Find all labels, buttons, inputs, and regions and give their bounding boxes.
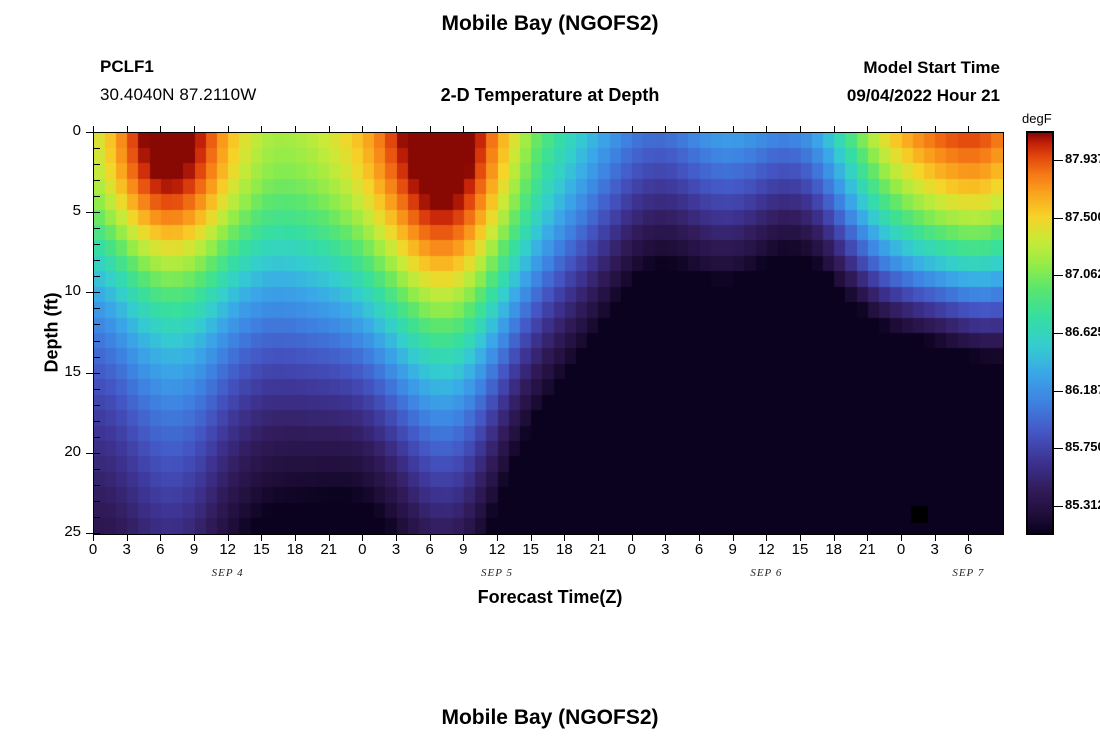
- x-axis-top-tick: [935, 126, 936, 132]
- x-axis-tick-label: 18: [280, 541, 310, 558]
- colorbar-tick-label: 87.5000: [1065, 209, 1100, 224]
- y-axis-minor-tick: [94, 308, 100, 309]
- x-axis-tick-mark: [632, 534, 633, 541]
- y-axis-minor-tick: [94, 164, 100, 165]
- x-axis-top-tick: [531, 126, 532, 132]
- y-axis-tick-mark: [86, 373, 93, 374]
- colorbar-tick-mark: [1054, 275, 1063, 276]
- colorbar-units-label: degF: [1022, 111, 1052, 126]
- x-axis-top-tick: [228, 126, 229, 132]
- x-axis-tick-mark: [295, 534, 296, 541]
- y-axis-minor-tick: [94, 212, 100, 213]
- x-axis-top-tick: [632, 126, 633, 132]
- x-axis-tick-mark: [160, 534, 161, 541]
- x-axis-top-tick: [261, 126, 262, 132]
- colorbar-tick-mark: [1054, 391, 1063, 392]
- x-axis-tick-mark: [867, 534, 868, 541]
- y-axis-minor-tick: [94, 533, 100, 534]
- x-axis-tick-label: 6: [684, 541, 714, 558]
- x-axis-day-label: SEP 7: [933, 567, 1003, 579]
- x-axis-top-tick: [968, 126, 969, 132]
- heatmap-plot-area: [93, 132, 1004, 535]
- colorbar-tick-label: 86.6250: [1065, 324, 1100, 339]
- y-axis-minor-tick: [94, 324, 100, 325]
- colorbar-tick-label: 85.3125: [1065, 497, 1100, 512]
- x-axis-tick-mark: [463, 534, 464, 541]
- x-axis-tick-mark: [733, 534, 734, 541]
- x-axis-top-tick: [194, 126, 195, 132]
- x-axis-top-tick: [733, 126, 734, 132]
- x-axis-tick-label: 12: [482, 541, 512, 558]
- y-axis-tick-mark: [86, 533, 93, 534]
- x-axis-top-tick: [430, 126, 431, 132]
- x-axis-title: Forecast Time(Z): [0, 587, 1100, 608]
- y-axis-tick-mark: [86, 292, 93, 293]
- x-axis-top-tick: [295, 126, 296, 132]
- y-axis-minor-tick: [94, 501, 100, 502]
- x-axis-tick-label: 3: [381, 541, 411, 558]
- y-axis-minor-tick: [94, 485, 100, 486]
- colorbar-tick-mark: [1054, 160, 1063, 161]
- x-axis-tick-label: 18: [549, 541, 579, 558]
- x-axis-tick-mark: [194, 534, 195, 541]
- y-axis-tick-mark: [86, 453, 93, 454]
- y-axis-minor-tick: [94, 180, 100, 181]
- x-axis-tick-label: 15: [785, 541, 815, 558]
- x-axis-day-label: SEP 4: [193, 567, 263, 579]
- y-axis-tick-label: 15: [41, 363, 81, 380]
- x-axis-tick-label: 0: [886, 541, 916, 558]
- x-axis-tick-mark: [901, 534, 902, 541]
- x-axis-day-label: SEP 5: [462, 567, 532, 579]
- x-axis-top-tick: [699, 126, 700, 132]
- x-axis-tick-mark: [598, 534, 599, 541]
- y-axis-tick-label: 20: [41, 443, 81, 460]
- x-axis-tick-mark: [127, 534, 128, 541]
- x-axis-tick-mark: [362, 534, 363, 541]
- colorbar-tick-mark: [1054, 506, 1063, 507]
- colorbar-tick-label: 87.0625: [1065, 266, 1100, 281]
- x-axis-tick-label: 3: [920, 541, 950, 558]
- x-axis-tick-label: 0: [78, 541, 108, 558]
- y-axis-minor-tick: [94, 228, 100, 229]
- y-axis-tick-mark: [86, 212, 93, 213]
- page-title-bottom: Mobile Bay (NGOFS2): [0, 706, 1100, 730]
- x-axis-tick-label: 3: [112, 541, 142, 558]
- temperature-heatmap-canvas: [94, 133, 1003, 534]
- x-axis-tick-label: 12: [213, 541, 243, 558]
- x-axis-tick-mark: [261, 534, 262, 541]
- y-axis-minor-tick: [94, 405, 100, 406]
- x-axis-tick-label: 3: [650, 541, 680, 558]
- model-start-time-label: Model Start Time: [700, 58, 1000, 78]
- x-axis-tick-label: 21: [583, 541, 613, 558]
- y-axis-minor-tick: [94, 196, 100, 197]
- x-axis-tick-mark: [968, 534, 969, 541]
- x-axis-tick-mark: [935, 534, 936, 541]
- x-axis-tick-label: 12: [751, 541, 781, 558]
- x-axis-tick-label: 9: [448, 541, 478, 558]
- x-axis-tick-mark: [93, 534, 94, 541]
- x-axis-top-tick: [766, 126, 767, 132]
- x-axis-tick-mark: [430, 534, 431, 541]
- x-axis-tick-mark: [329, 534, 330, 541]
- x-axis-tick-mark: [699, 534, 700, 541]
- x-axis-top-tick: [665, 126, 666, 132]
- y-axis-minor-tick: [94, 469, 100, 470]
- x-axis-top-tick: [800, 126, 801, 132]
- x-axis-top-tick: [564, 126, 565, 132]
- x-axis-day-label: SEP 6: [731, 567, 801, 579]
- y-axis-minor-tick: [94, 517, 100, 518]
- x-axis-top-tick: [463, 126, 464, 132]
- x-axis-top-tick: [497, 126, 498, 132]
- colorbar: [1026, 131, 1054, 535]
- x-axis-tick-mark: [228, 534, 229, 541]
- x-axis-tick-label: 0: [617, 541, 647, 558]
- y-axis-minor-tick: [94, 373, 100, 374]
- colorbar-gradient-canvas: [1028, 133, 1052, 533]
- y-axis-minor-tick: [94, 292, 100, 293]
- x-axis-top-tick: [901, 126, 902, 132]
- x-axis-top-tick: [867, 126, 868, 132]
- x-axis-top-tick: [329, 126, 330, 132]
- y-axis-minor-tick: [94, 389, 100, 390]
- x-axis-tick-mark: [800, 534, 801, 541]
- x-axis-tick-label: 21: [314, 541, 344, 558]
- x-axis-tick-mark: [497, 534, 498, 541]
- y-axis-minor-tick: [94, 260, 100, 261]
- x-axis-tick-label: 9: [718, 541, 748, 558]
- x-axis-tick-mark: [665, 534, 666, 541]
- y-axis-minor-tick: [94, 148, 100, 149]
- x-axis-top-tick: [396, 126, 397, 132]
- y-axis-minor-tick: [94, 357, 100, 358]
- colorbar-tick-mark: [1054, 333, 1063, 334]
- x-axis-top-tick: [362, 126, 363, 132]
- x-axis-tick-label: 6: [145, 541, 175, 558]
- x-axis-tick-label: 21: [852, 541, 882, 558]
- y-axis-minor-tick: [94, 341, 100, 342]
- x-axis-tick-mark: [396, 534, 397, 541]
- x-axis-tick-mark: [531, 534, 532, 541]
- y-axis-minor-tick: [94, 276, 100, 277]
- y-axis-tick-label: 0: [41, 122, 81, 139]
- y-axis-tick-mark: [86, 132, 93, 133]
- x-axis-tick-label: 18: [819, 541, 849, 558]
- x-axis-tick-label: 6: [415, 541, 445, 558]
- x-axis-tick-label: 6: [953, 541, 983, 558]
- x-axis-tick-label: 9: [179, 541, 209, 558]
- y-axis-tick-label: 5: [41, 202, 81, 219]
- y-axis-minor-tick: [94, 421, 100, 422]
- colorbar-tick-label: 86.1875: [1065, 382, 1100, 397]
- x-axis-top-tick: [160, 126, 161, 132]
- x-axis-tick-mark: [564, 534, 565, 541]
- x-axis-tick-mark: [766, 534, 767, 541]
- station-id: PCLF1: [100, 57, 154, 77]
- x-axis-tick-label: 15: [516, 541, 546, 558]
- colorbar-tick-label: 85.7500: [1065, 439, 1100, 454]
- y-axis-minor-tick: [94, 437, 100, 438]
- colorbar-tick-mark: [1054, 448, 1063, 449]
- x-axis-tick-mark: [834, 534, 835, 541]
- colorbar-tick-mark: [1054, 218, 1063, 219]
- y-axis-minor-tick: [94, 132, 100, 133]
- colorbar-tick-label: 87.9375: [1065, 151, 1100, 166]
- y-axis-minor-tick: [94, 244, 100, 245]
- y-axis-minor-tick: [94, 453, 100, 454]
- x-axis-top-tick: [598, 126, 599, 132]
- y-axis-tick-label: 25: [41, 523, 81, 540]
- x-axis-tick-label: 0: [347, 541, 377, 558]
- y-axis-tick-label: 10: [41, 282, 81, 299]
- page-title-top: Mobile Bay (NGOFS2): [0, 12, 1100, 36]
- x-axis-tick-label: 15: [246, 541, 276, 558]
- model-start-time-value: 09/04/2022 Hour 21: [700, 86, 1000, 106]
- x-axis-top-tick: [127, 126, 128, 132]
- x-axis-top-tick: [93, 126, 94, 132]
- x-axis-top-tick: [834, 126, 835, 132]
